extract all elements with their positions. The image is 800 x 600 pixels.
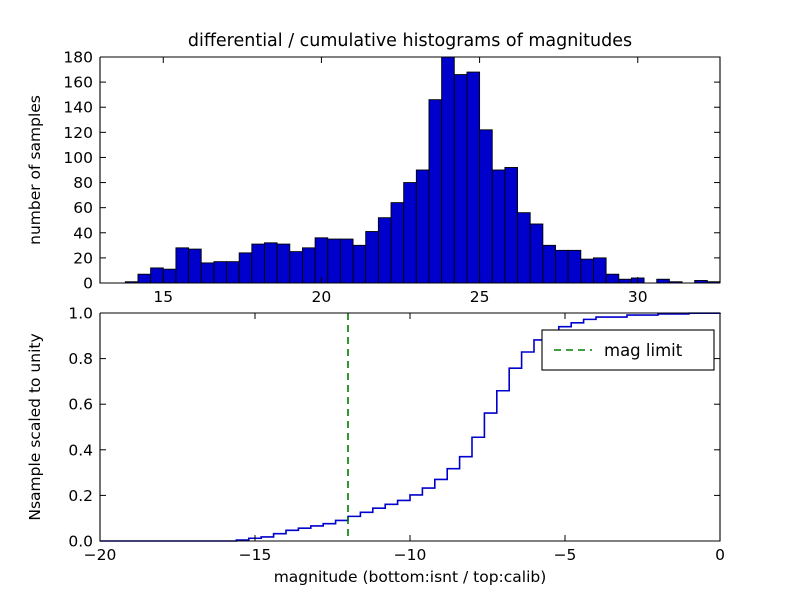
top-y-tick-label: 0 (83, 275, 93, 293)
bottom-y-tick-label: 0.6 (68, 396, 93, 414)
bottom-x-tick-label: 0 (715, 546, 725, 564)
histogram-bar (593, 258, 606, 283)
top-y-tick-label: 120 (63, 124, 93, 142)
histogram-bar (606, 274, 619, 283)
histogram-bar (302, 248, 315, 283)
histogram-bars (125, 57, 720, 283)
bottom-panel: 0.00.20.40.60.81.0 −20−15−10−50 Nsample … (26, 305, 725, 587)
top-y-tick-label: 40 (73, 224, 93, 242)
histogram-bar (518, 213, 531, 283)
histogram-bar (391, 203, 404, 283)
top-x-tick-label: 30 (628, 288, 648, 306)
matplotlib-figure: 020406080100120140160180 15202530 number… (0, 0, 800, 600)
bottom-x-axis-label: magnitude (bottom:isnt / top:calib) (274, 568, 547, 586)
histogram-bar (315, 238, 328, 283)
bottom-y-tick-label: 1.0 (68, 305, 93, 323)
histogram-bar (378, 218, 391, 283)
histogram-bar (404, 183, 417, 283)
histogram-bar (252, 244, 265, 283)
top-y-tick-label: 20 (73, 249, 93, 267)
top-panel: 020406080100120140160180 15202530 number… (26, 31, 720, 306)
histogram-bar (264, 243, 277, 283)
histogram-bar (138, 274, 151, 283)
top-x-tick-label: 25 (470, 288, 490, 306)
top-y-tick-label: 160 (63, 74, 93, 92)
histogram-bar (239, 253, 252, 283)
histogram-bar (214, 262, 227, 283)
top-x-tick-label: 15 (153, 288, 173, 306)
histogram-bar (505, 167, 518, 283)
top-y-tick-label: 100 (63, 149, 93, 167)
histogram-bar (201, 263, 214, 283)
histogram-bar (328, 239, 341, 283)
top-y-axis-label: number of samples (26, 95, 44, 245)
histogram-bar (442, 57, 455, 283)
histogram-bar (416, 170, 429, 283)
histogram-bar (227, 262, 240, 283)
histogram-bar (657, 279, 670, 283)
histogram-bar (290, 252, 303, 283)
bottom-y-tick-label: 0.8 (68, 350, 93, 368)
top-y-tick-label: 140 (63, 99, 93, 117)
histogram-bar (163, 269, 176, 283)
histogram-bar (189, 249, 202, 283)
histogram-bar (340, 239, 353, 283)
histogram-bar (366, 232, 379, 283)
histogram-bar (277, 244, 290, 283)
bottom-y-tick-label: 0.4 (68, 441, 93, 459)
bottom-x-tick-label: −15 (239, 546, 272, 564)
histogram-bar (176, 248, 189, 283)
top-x-tick-label: 20 (312, 288, 332, 306)
histogram-bar (480, 130, 493, 283)
bottom-y-tick-label: 0.2 (68, 487, 93, 505)
bottom-x-tick-label: −20 (84, 546, 117, 564)
histogram-bar (492, 170, 505, 283)
histogram-bar (530, 224, 543, 283)
legend-label-mag-limit: mag limit (604, 341, 683, 360)
histogram-bar (429, 100, 442, 283)
top-y-tick-label: 60 (73, 199, 93, 217)
top-y-tick-label: 180 (63, 49, 93, 67)
histogram-bar (581, 259, 594, 283)
histogram-bar (619, 279, 632, 283)
histogram-bar (454, 75, 467, 283)
histogram-bar (353, 245, 366, 283)
histogram-bar (556, 250, 569, 283)
histogram-bar (543, 245, 556, 283)
bottom-y-axis-label: Nsample scaled to unity (26, 333, 44, 520)
figure-title: differential / cumulative histograms of … (188, 31, 632, 51)
top-y-tick-label: 80 (73, 174, 93, 192)
legend[interactable]: mag limit (542, 330, 714, 370)
histogram-bar (568, 250, 581, 283)
histogram-bar (467, 72, 480, 283)
histogram-bar (151, 268, 164, 283)
bottom-x-tick-label: −10 (394, 546, 427, 564)
bottom-x-tick-label: −5 (554, 546, 577, 564)
